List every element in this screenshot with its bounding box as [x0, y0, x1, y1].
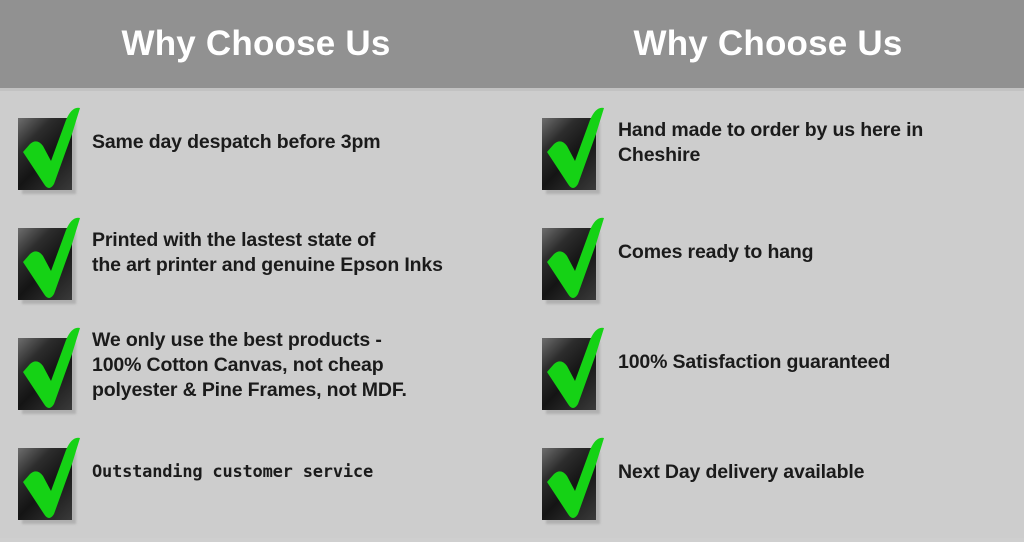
list-item-label: We only use the best products - 100% Cot… — [92, 324, 407, 403]
list-item-label: Same day despatch before 3pm — [92, 104, 380, 155]
list-item: Printed with the lastest state of the ar… — [14, 214, 512, 324]
page-title-right: Why Choose Us — [633, 26, 902, 61]
list-item: We only use the best products - 100% Cot… — [14, 324, 512, 434]
why-choose-us-banner: Why Choose Us Why Choose Us Same day des… — [0, 0, 1024, 538]
list-item: 100% Satisfaction guaranteed — [538, 324, 1024, 434]
list-item: Hand made to order by us here in Cheshir… — [538, 104, 1024, 214]
check-mark-icon — [14, 106, 88, 192]
green-check-box-icon — [14, 106, 88, 192]
check-mark-icon — [14, 326, 88, 412]
check-mark-icon — [538, 436, 612, 522]
list-item-label: 100% Satisfaction guaranteed — [618, 324, 890, 375]
check-mark-icon — [538, 216, 612, 302]
green-check-box-icon — [14, 326, 88, 412]
list-item-label: Comes ready to hang — [618, 214, 813, 265]
header-cell-left: Why Choose Us — [0, 0, 512, 88]
page-title-left: Why Choose Us — [121, 26, 390, 61]
feature-column-right: Hand made to order by us here in Cheshir… — [512, 91, 1024, 538]
feature-column-left: Same day despatch before 3pm Printed wit… — [0, 91, 512, 538]
list-item: Next Day delivery available — [538, 434, 1024, 542]
green-check-box-icon — [538, 106, 612, 192]
header-cell-right: Why Choose Us — [512, 0, 1024, 88]
check-mark-icon — [14, 436, 88, 522]
check-mark-icon — [538, 326, 612, 412]
list-item-label: Hand made to order by us here in Cheshir… — [618, 104, 923, 168]
green-check-box-icon — [14, 436, 88, 522]
list-item: Outstanding customer service — [14, 434, 512, 542]
green-check-box-icon — [538, 436, 612, 522]
check-mark-icon — [14, 216, 88, 302]
green-check-box-icon — [14, 216, 88, 302]
feature-columns: Same day despatch before 3pm Printed wit… — [0, 91, 1024, 538]
list-item-label: Outstanding customer service — [92, 434, 373, 485]
list-item: Comes ready to hang — [538, 214, 1024, 324]
green-check-box-icon — [538, 326, 612, 412]
list-item-label: Next Day delivery available — [618, 434, 864, 485]
header-row: Why Choose Us Why Choose Us — [0, 0, 1024, 91]
list-item-label: Printed with the lastest state of the ar… — [92, 214, 443, 278]
list-item: Same day despatch before 3pm — [14, 104, 512, 214]
check-mark-icon — [538, 106, 612, 192]
green-check-box-icon — [538, 216, 612, 302]
